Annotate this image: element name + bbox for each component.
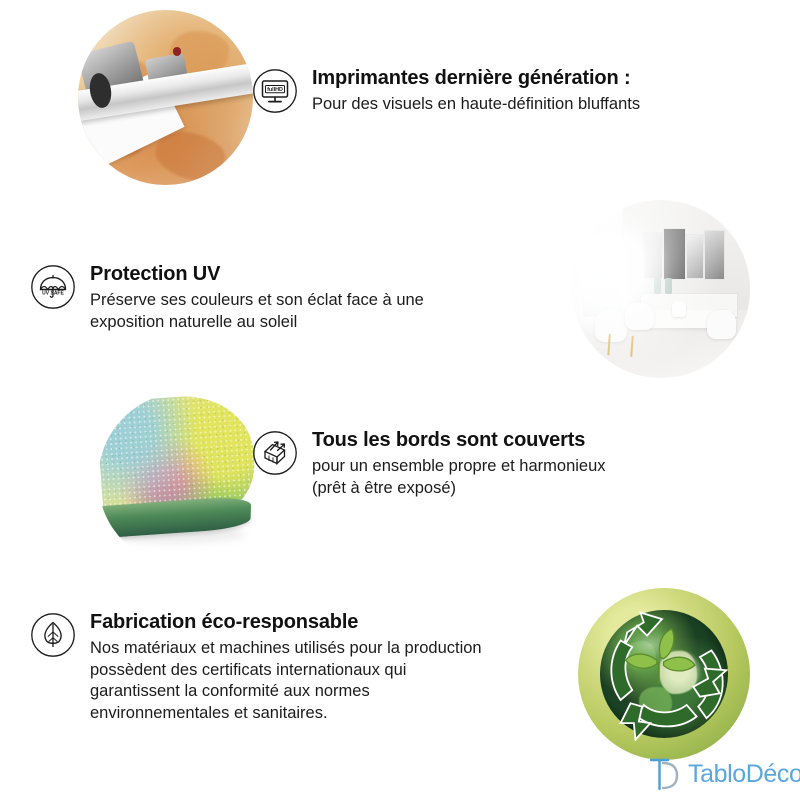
feature-eco-title: Fabrication éco-responsable [90,611,482,635]
feature-eco-description: Nos matériaux et machines utilisés pour … [90,638,482,726]
desc-line: environnementales et sanitaires. [90,703,482,725]
feature-uv-protection: UV SAFE Protection UV Préserve ses coule… [30,262,510,333]
interior-light-glow [572,200,750,378]
colorful-canvas-corner-photo [98,392,273,567]
bright-dining-room-canvas-photo [572,200,750,378]
uv-safe-umbrella-icon: UV SAFE [30,264,76,310]
feature-covered-edges: Tous les bords sont couverts pour un ens… [252,428,692,499]
brand-logo[interactable]: TabloDéco™.fr [648,756,800,792]
feature-printers-description: Pour des visuels en haute-définition blu… [312,94,640,116]
svg-text:fullHD: fullHD [267,87,283,93]
green-earth-recycling-photo [578,588,750,760]
desc-line: pour un ensemble propre et harmonieux [312,456,606,478]
printer-indicator-dot [173,47,182,56]
feature-edges-title: Tous les bords sont couverts [312,429,606,453]
desc-line: exposition naturelle au soleil [90,312,424,334]
desc-line: Préserve ses couleurs et son éclat face … [90,290,424,312]
fullhd-monitor-icon: fullHD [252,68,298,114]
desc-line: garantissent la conformité aux normes [90,681,482,703]
leaf-sprout-icon [581,591,746,756]
desc-line: Nos matériaux et machines utilisés pour … [90,638,482,660]
svg-text:UV SAFE: UV SAFE [42,291,64,297]
feature-edges-text: Tous les bords sont couverts pour un ens… [312,428,606,499]
feature-uv-title: Protection UV [90,263,424,287]
wrapped-edges-icon [252,430,298,476]
td-monogram-icon [648,756,682,792]
feature-printers-title: Imprimantes dernière génération : [312,67,640,91]
desc-line: (prêt à être exposé) [312,478,606,500]
desc-line: possèdent des certificats internationaux… [90,660,482,682]
feature-printers-text: Imprimantes dernière génération : Pour d… [312,66,640,116]
desc-line: Pour des visuels en haute-définition blu… [312,94,640,116]
leaf-icon [30,612,76,658]
printer-roller-world-map-photo [78,10,253,185]
feature-eco-text: Fabrication éco-responsable Nos matériau… [90,610,482,725]
feature-printers: fullHD Imprimantes dernière génération :… [252,66,722,116]
feature-uv-text: Protection UV Préserve ses couleurs et s… [90,262,424,333]
feature-uv-description: Préserve ses couleurs et son éclat face … [90,290,424,334]
feature-edges-description: pour un ensemble propre et harmonieux (p… [312,456,606,500]
infographic-canvas: fullHD Imprimantes dernière génération :… [0,0,800,800]
brand-name-text: TabloDéco [688,760,800,788]
brand-wordmark: TabloDéco™.fr [688,762,800,787]
feature-eco-manufacturing: Fabrication éco-responsable Nos matériau… [30,610,590,725]
